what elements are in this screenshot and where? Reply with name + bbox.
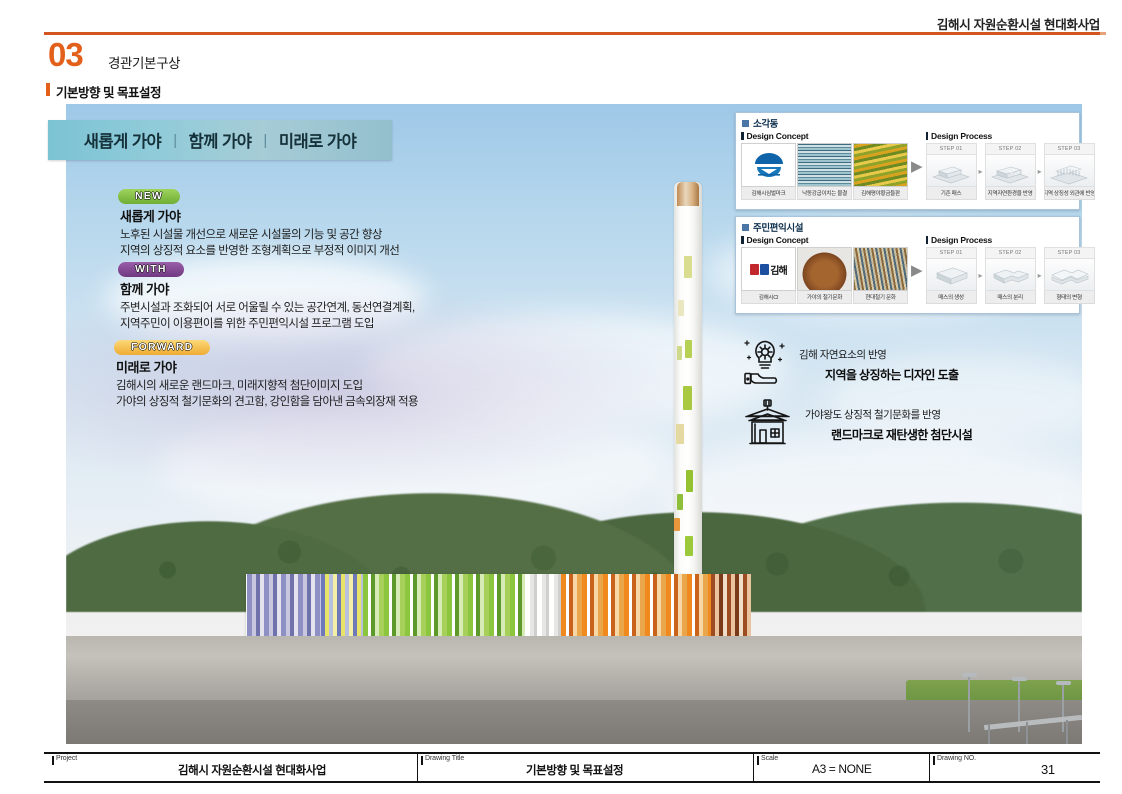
design-process-label: Design Process — [931, 235, 992, 245]
stack-accent — [677, 346, 682, 360]
footer-drawing-no-label: Drawing NO. — [937, 755, 976, 762]
panel-header: 주민편익시설 — [736, 217, 1079, 235]
lightbulb-gear-on-hand-icon — [742, 336, 788, 393]
concept-thumb: 김해 김해시CI — [741, 247, 796, 304]
goal-line2-new: 지역의 상징적 요소를 반영한 조형계획으로 부정적 이미지 개선 — [120, 243, 399, 259]
step-arrow-icon: ▸ — [979, 167, 983, 176]
step-massing-diagram — [1044, 154, 1095, 187]
header-project-title: 김해시 자원순환시설 현대화사업 — [937, 14, 1100, 33]
footer-divider — [753, 754, 754, 781]
vision-item-1: 새롭게 가야 — [84, 128, 161, 152]
concept-thumbnails: 김해 김해시CI 가야의 철기문화 현대철기 문화 — [741, 247, 908, 304]
concept-panel-incineration: 소각동 Design Concept — [735, 112, 1080, 210]
step-number: STEP 03 — [1044, 247, 1095, 258]
icon-row-line1: 가야왕도 상징적 철기문화를 반영 — [805, 407, 972, 422]
process-steps: STEP 01 매스의 생성 ▸ STEP 02 — [926, 247, 1095, 304]
vision-separator: | — [263, 132, 266, 149]
pergola-post — [1066, 720, 1068, 744]
street-lamp — [1062, 684, 1064, 732]
pergola-post — [988, 724, 990, 744]
footer-divider — [417, 754, 418, 781]
process-steps: STEP 01 기존 매스 ▸ STEP — [926, 143, 1095, 200]
facade-pattern-green — [363, 574, 525, 638]
goal-heading-forward: 미래로 가야 — [116, 357, 418, 376]
footer-drawing-no-value: 31 — [1041, 762, 1055, 777]
gaya-ironware-pottery-image — [797, 247, 852, 291]
footer-tick — [52, 756, 54, 765]
icon-row-line1: 김해 자연요소의 반영 — [799, 347, 958, 362]
stack-accent — [674, 518, 680, 531]
concept-caption: 김해시심벌마크 — [741, 187, 796, 200]
footer-scale-value: A3 = NONE — [812, 762, 871, 776]
concept-caption: 낙동강굽이치는 물결 — [797, 187, 852, 200]
process-step: STEP 01 매스의 생성 — [926, 247, 977, 304]
concept-caption: 현대철기 문화 — [853, 291, 908, 304]
goal-line1-new: 노후된 시설물 개선으로 새로운 시설물의 기능 및 공간 향상 — [120, 227, 399, 243]
concept-thumb: 낙동강굽이치는 물결 — [797, 143, 852, 200]
chimney-cap — [677, 182, 699, 206]
design-concept-label-row: Design Concept — [741, 131, 908, 141]
footer-tick — [421, 756, 423, 765]
design-concept-label: Design Concept — [747, 131, 809, 141]
stack-accent — [684, 256, 692, 278]
design-concept-label-row: Design Concept — [741, 235, 908, 245]
stack-accent — [678, 300, 684, 316]
step-number: STEP 01 — [926, 143, 977, 154]
street-lamp — [968, 676, 970, 732]
modern-ironware-architecture-image — [853, 247, 908, 291]
stack-accent — [676, 424, 684, 444]
vision-banner: 새롭게 가야 | 함께 가야 | 미래로 가야 — [48, 120, 392, 160]
step-caption: 매스의 생성 — [926, 291, 977, 304]
goal-line1-with: 주변시설과 조화되어 서로 어울릴 수 있는 공간연계, 동선연결계획, — [120, 300, 415, 316]
goal-group-new: NEW 새롭게 가야 노후된 시설물 개선으로 새로운 시설물의 기능 및 공간… — [118, 186, 399, 260]
concept-caption: 가야의 철기문화 — [797, 291, 852, 304]
icon-row-text: 가야왕도 상징적 철기문화를 반영 랜드마크로 재탄생한 첨단시설 — [805, 407, 972, 443]
goal-heading-with: 함께 가야 — [120, 279, 415, 298]
process-step: STEP 03 — [1044, 143, 1095, 200]
goal-tag-forward: FORWARD — [114, 340, 210, 355]
step-arrow-icon: ▸ — [979, 271, 983, 280]
facade-pattern-brown — [711, 574, 751, 638]
process-step: STEP 03 형태의 변형 — [1044, 247, 1095, 304]
label-bar-icon — [926, 236, 929, 244]
step-number: STEP 02 — [985, 143, 1036, 154]
panel-columns: Design Concept 김해 김해시CI 가야의 철기문화 — [736, 235, 1079, 304]
label-bar-icon — [741, 132, 744, 140]
concept-thumb: 현대철기 문화 — [853, 247, 908, 304]
step-caption: 매스의 분리 — [985, 291, 1036, 304]
concept-panel-community-facility: 주민편익시설 Design Concept 김해 김해시CI — [735, 216, 1080, 314]
flow-arrow-icon: ▶ — [911, 261, 923, 279]
design-process-column: Design Process STEP 01 — [926, 131, 1095, 200]
step-caption: 형태의 변형 — [1044, 291, 1095, 304]
goal-group-forward: FORWARD 미래로 가야 김해시의 새로운 랜드마크, 미래지향적 첨단이미… — [114, 337, 418, 411]
concept-caption: 김해시CI — [741, 291, 796, 304]
goal-line2-forward: 가야의 상징적 철기문화의 견고함, 강인함을 담아낸 금속외장재 적용 — [116, 394, 418, 410]
step-number: STEP 03 — [1044, 143, 1095, 154]
design-concept-label: Design Concept — [747, 235, 809, 245]
concept-caption: 김해평야황금들판 — [853, 187, 908, 200]
stack-accent — [686, 470, 693, 492]
icon-row-nature: 김해 자연요소의 반영 지역을 상징하는 디자인 도출 — [742, 336, 958, 393]
concept-thumb: 김해평야황금들판 — [853, 143, 908, 200]
panel-columns: Design Concept 김해시 — [736, 131, 1079, 200]
goal-line2-with: 지역주민이 이용편이를 위한 주민편익시설 프로그램 도입 — [120, 316, 415, 332]
process-step: STEP 02 지역자연환경을 반영 — [985, 143, 1036, 200]
step-massing-diagram — [985, 258, 1036, 291]
vision-separator: | — [173, 132, 176, 149]
goal-heading-new: 새롭게 가야 — [120, 206, 399, 225]
footer-project-value: 김해시 자원순환시설 현대화사업 — [178, 762, 326, 778]
panel-title: 주민편익시설 — [753, 220, 803, 234]
icon-row-text: 김해 자연요소의 반영 지역을 상징하는 디자인 도출 — [799, 347, 958, 383]
section-number: 03 — [48, 38, 83, 71]
header-rule — [44, 32, 1100, 35]
stack-accent — [685, 536, 693, 556]
panel-title: 소각동 — [753, 116, 778, 130]
slide-page: 김해시 자원순환시설 현대화사업 03 경관기본구상 기본방향 및 목표설정 — [0, 0, 1122, 794]
golden-field-image — [853, 143, 908, 187]
footer-project-label: Project — [56, 755, 77, 762]
footer-tick — [757, 756, 759, 765]
facade-pattern-white — [525, 574, 561, 638]
vision-item-3: 미래로 가야 — [279, 128, 356, 152]
panel-header: 소각동 — [736, 113, 1079, 131]
icon-row-landmark: 가야왕도 상징적 철기문화를 반영 랜드마크로 재탄생한 첨단시설 — [742, 398, 972, 451]
access-road — [66, 700, 1082, 744]
footer-drawing-title-label: Drawing Title — [425, 755, 464, 762]
bullet-square-icon — [742, 224, 749, 231]
icon-row-line2: 랜드마크로 재탄생한 첨단시설 — [805, 426, 972, 443]
traditional-building-icon — [742, 398, 794, 451]
step-massing-diagram — [926, 258, 977, 291]
icon-row-line2: 지역을 상징하는 디자인 도출 — [799, 366, 958, 383]
goal-group-with: WITH 함께 가야 주변시설과 조화되어 서로 어울릴 수 있는 공간연계, … — [118, 259, 415, 333]
footer-drawing-title-cell: Drawing Title 기본방향 및 목표설정 — [421, 754, 751, 781]
step-caption: 기존 매스 — [926, 187, 977, 200]
goal-line1-forward: 김해시의 새로운 랜드마크, 미래지향적 첨단이미지 도입 — [116, 378, 418, 394]
footer-tick — [933, 756, 935, 765]
step-arrow-icon: ▸ — [1038, 271, 1042, 280]
goal-tag-new: NEW — [118, 189, 180, 204]
nakdong-river-waves-image — [797, 143, 852, 187]
step-massing-diagram — [1044, 258, 1095, 291]
concept-thumb: 가야의 철기문화 — [797, 247, 852, 304]
step-massing-diagram — [985, 154, 1036, 187]
facade-pattern-orange — [561, 574, 711, 638]
footer-bottom-rule — [44, 781, 1100, 783]
vision-item-2: 함께 가야 — [189, 128, 252, 152]
footer-scale-label: Scale — [761, 755, 778, 762]
design-process-column: Design Process STEP 01 매스의 생성 — [926, 235, 1095, 304]
footer-scale-cell: Scale A3 = NONE — [757, 754, 927, 781]
step-caption: 지역 상징성 외관에 반영 — [1044, 187, 1095, 200]
flow-arrow-icon: ▶ — [911, 157, 923, 175]
step-massing-diagram — [926, 154, 977, 187]
label-bar-icon — [741, 236, 744, 244]
footer-divider — [929, 754, 930, 781]
stack-accent — [677, 494, 683, 510]
footer-drawing-title-value: 기본방향 및 목표설정 — [526, 762, 623, 778]
section-title: 경관기본구상 — [108, 52, 180, 72]
design-process-label: Design Process — [931, 131, 992, 141]
concept-thumbnails: 김해시심벌마크 낙동강굽이치는 물결 김해평야황금들판 — [741, 143, 908, 200]
label-bar-icon — [926, 132, 929, 140]
footer-drawing-no-cell: Drawing NO. 31 — [933, 754, 1093, 781]
stack-accent — [683, 386, 692, 410]
footer-project-cell: Project 김해시 자원순환시설 현대화사업 — [52, 754, 412, 781]
process-step: STEP 01 기존 매스 — [926, 143, 977, 200]
design-process-label-row: Design Process — [926, 235, 1095, 245]
design-concept-column: Design Concept 김해시 — [741, 131, 908, 200]
design-concept-column: Design Concept 김해 김해시CI 가야의 철기문화 — [741, 235, 908, 304]
process-step: STEP 02 매스의 분리 — [985, 247, 1036, 304]
facade-pattern-blue-yellow — [321, 574, 363, 638]
bullet-square-icon — [742, 120, 749, 127]
facade-pattern-purple — [247, 574, 321, 638]
kimhae-ci-logo-icon: 김해 — [741, 247, 796, 291]
goal-tag-with: WITH — [118, 262, 184, 277]
step-arrow-icon: ▸ — [1038, 167, 1042, 176]
subsection-title: 기본방향 및 목표설정 — [56, 82, 161, 101]
concept-thumb: 김해시심벌마크 — [741, 143, 796, 200]
step-caption: 지역자연환경을 반영 — [985, 187, 1036, 200]
stack-accent — [685, 340, 692, 358]
step-number: STEP 02 — [985, 247, 1036, 258]
step-number: STEP 01 — [926, 247, 977, 258]
kimhae-symbol-mark-icon — [741, 143, 796, 187]
pergola-post — [1026, 722, 1028, 744]
subsection-marker — [46, 83, 50, 96]
design-process-label-row: Design Process — [926, 131, 1095, 141]
